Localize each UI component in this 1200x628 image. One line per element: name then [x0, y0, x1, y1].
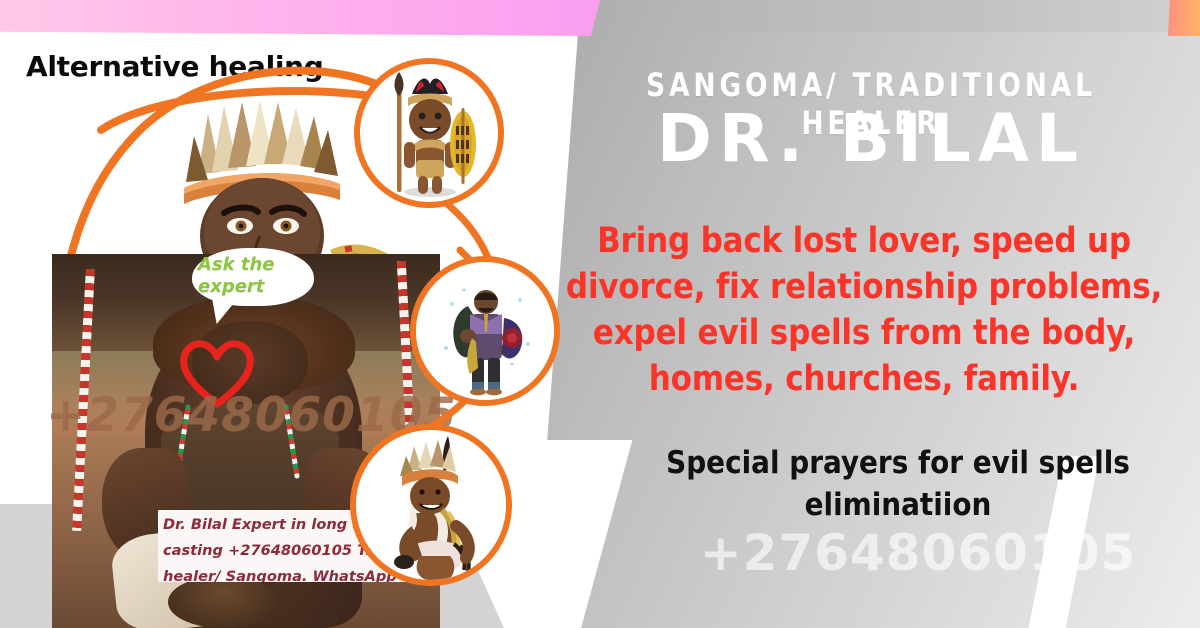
top-bar-pink: [0, 0, 600, 36]
healer-name: DR. BILAL: [562, 104, 1180, 173]
traditional-diviner-icon: [416, 262, 556, 402]
poster-canvas: Alternative healing: [0, 0, 1200, 628]
speech-bubble-text: Ask the expert: [198, 254, 310, 298]
contact-phone-watermark: +27648060105: [640, 524, 1196, 582]
top-bar-orange-main: [1168, 0, 1200, 36]
circle-crouching-dancer: [350, 424, 512, 586]
crouching-dancer-icon: [356, 430, 506, 580]
services-text: Bring back lost lover, speed up divorce,…: [546, 218, 1182, 402]
circle-traditional-diviner: [410, 256, 560, 406]
circle-zulu-warrior: [354, 58, 504, 208]
special-prayers-text: Special prayers for evil spells eliminat…: [600, 442, 1196, 526]
top-bar-gray: [688, 0, 1174, 32]
zulu-warrior-icon: [360, 64, 500, 204]
